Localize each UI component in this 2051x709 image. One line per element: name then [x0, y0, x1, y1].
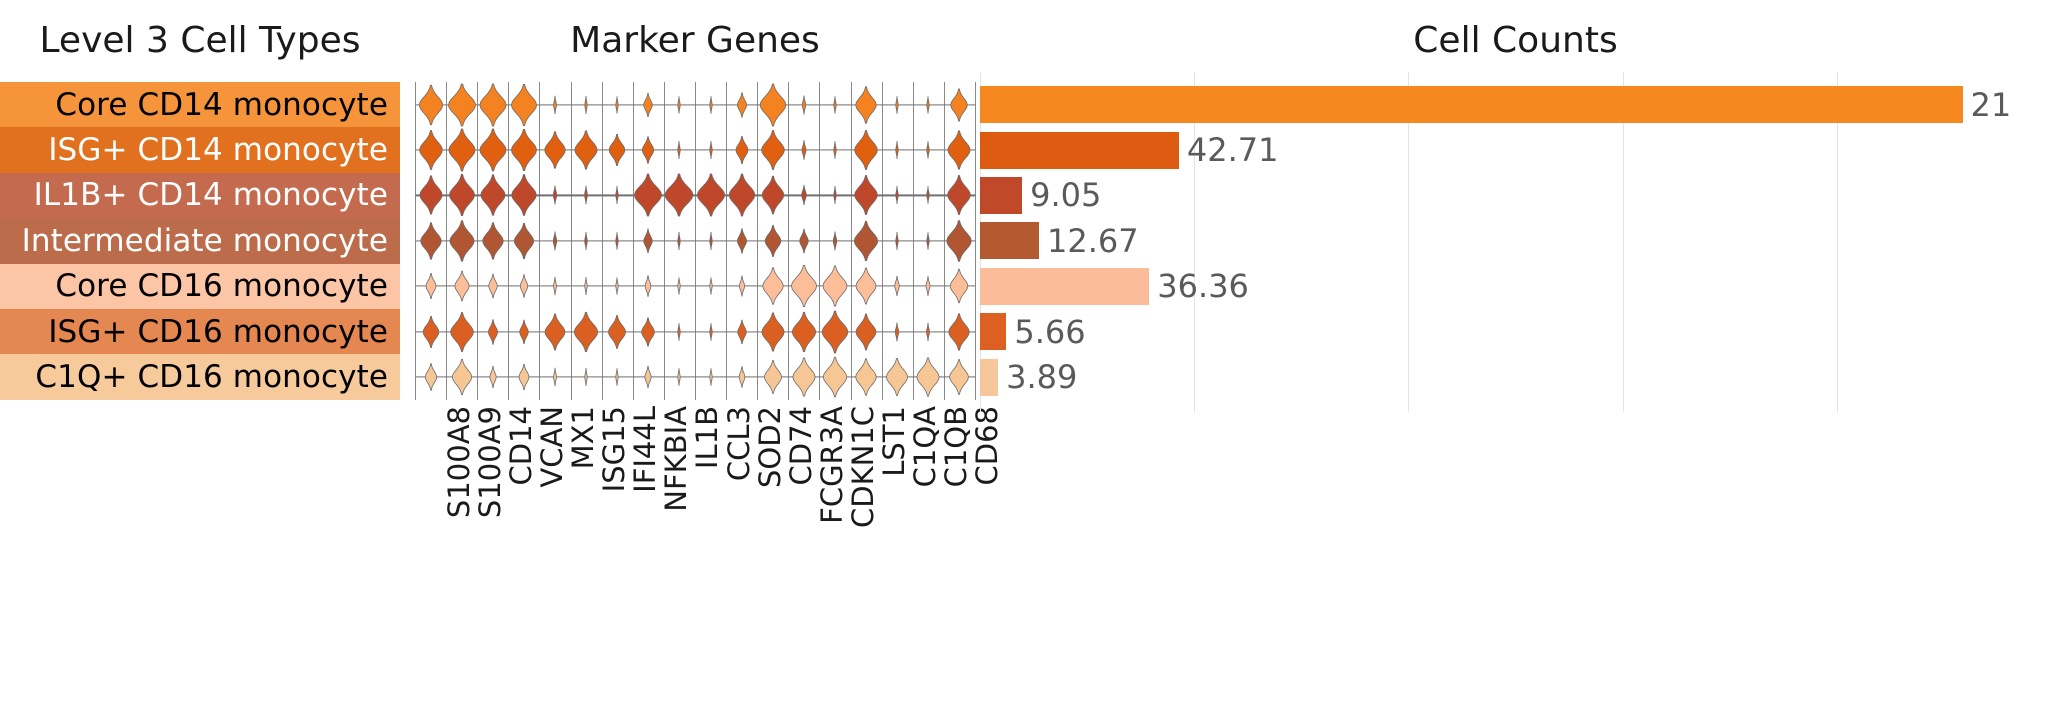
violin-cell — [882, 127, 913, 172]
violin-cell — [757, 127, 788, 172]
violin-shape — [881, 322, 914, 342]
violin-shape — [788, 357, 821, 397]
violin-shape — [912, 276, 945, 297]
violin-cell — [882, 354, 913, 399]
bar-row[interactable]: 5.66 — [980, 309, 2051, 354]
violin-shape — [725, 228, 758, 254]
violin-cell — [695, 82, 726, 127]
violin-cell — [851, 354, 882, 399]
violin-shape — [601, 186, 634, 205]
violin-cell — [415, 309, 446, 354]
bar-rows: 2142.719.0512.6736.365.663.89 — [980, 82, 2051, 400]
violin-shape — [912, 186, 945, 205]
gene-tick-label: C1QA — [908, 406, 942, 487]
violin-cell — [913, 309, 944, 354]
violin-shape — [881, 95, 914, 114]
violin-cell — [664, 82, 695, 127]
violin-shape — [943, 88, 976, 122]
violin-shape — [632, 365, 665, 388]
violin-shape — [570, 130, 603, 170]
violin-cell — [944, 218, 975, 263]
violin-shape — [756, 83, 789, 127]
bar-row[interactable]: 21 — [980, 82, 2051, 127]
violin-cell — [477, 218, 508, 263]
violin-shape — [601, 133, 634, 166]
violin-cell — [664, 264, 695, 309]
violin-cell — [726, 173, 757, 218]
violin-cell — [757, 82, 788, 127]
violin-shape — [570, 277, 603, 296]
violin-shape — [943, 269, 976, 304]
violin-cell — [788, 309, 819, 354]
violin-cell — [819, 127, 850, 172]
violin-shape — [756, 267, 789, 305]
violin-shape — [539, 231, 572, 251]
violin-shape — [850, 130, 883, 171]
violin-cell — [508, 354, 539, 399]
violin-shape — [663, 141, 696, 160]
violin-cell — [415, 173, 446, 218]
gene-tick-label: VCAN — [535, 406, 569, 488]
bar-row[interactable]: 42.71 — [980, 127, 2051, 172]
violin-shape — [476, 174, 509, 216]
violin-cell — [819, 264, 850, 309]
bar-row[interactable]: 36.36 — [980, 264, 2051, 309]
violin-cell — [726, 264, 757, 309]
violin-shape — [943, 130, 976, 170]
violin-shape — [414, 175, 447, 215]
violin-cell — [726, 309, 757, 354]
bar[interactable] — [980, 86, 1963, 123]
gene-tick-label: C1QB — [939, 406, 973, 487]
violin-shape — [663, 231, 696, 250]
violin-cell — [695, 264, 726, 309]
violin-shape — [663, 173, 696, 217]
violin-shape — [819, 310, 852, 354]
violin-cell — [508, 82, 539, 127]
violin-shape — [756, 176, 789, 216]
violin-cell — [788, 173, 819, 218]
violin-shape — [943, 359, 976, 396]
bar-row[interactable]: 12.67 — [980, 218, 2051, 263]
violin-shape — [445, 358, 478, 395]
violin-cell — [602, 354, 633, 399]
bar-value-label: 12.67 — [1047, 222, 1139, 260]
violin-cell — [602, 82, 633, 127]
violin-shape — [414, 273, 447, 300]
violin-shape — [601, 95, 634, 114]
violin-cell — [913, 264, 944, 309]
violin-shape — [476, 319, 509, 345]
violin-shape — [881, 231, 914, 250]
bar-row[interactable]: 9.05 — [980, 173, 2051, 218]
gene-tick-label: CDKN1C — [846, 406, 880, 528]
violin-cell — [819, 173, 850, 218]
violin-cell — [415, 354, 446, 399]
gene-tick-label: S100A9 — [473, 406, 507, 518]
violin-shape — [881, 358, 914, 397]
violin-shape — [508, 363, 541, 390]
violin-shape — [756, 312, 789, 352]
violin-shape — [508, 174, 541, 217]
violin-shape — [912, 357, 945, 397]
violin-cell — [726, 127, 757, 172]
violin-shape — [632, 275, 665, 298]
violin-cell — [446, 173, 477, 218]
gene-tick-label: CD74 — [784, 406, 818, 485]
violin-shape — [476, 365, 509, 388]
figure-root: Level 3 Cell Types Marker Genes Cell Cou… — [0, 0, 2051, 709]
violin-cell — [695, 354, 726, 399]
violin-cell — [446, 264, 477, 309]
violin-shape — [912, 231, 945, 250]
violin-shape — [725, 174, 758, 218]
violin-shape — [694, 368, 727, 387]
gene-tick-label: S100A8 — [442, 406, 476, 518]
violin-cell — [446, 218, 477, 263]
violin-shape — [570, 368, 603, 387]
violin-shape — [414, 222, 447, 260]
violin-cell — [571, 309, 602, 354]
violin-cell — [633, 173, 664, 218]
violin-cell — [508, 127, 539, 172]
violin-shape — [539, 131, 572, 169]
violin-shape — [663, 277, 696, 296]
violin-cell — [571, 218, 602, 263]
cell-type-label: Core CD16 monocyte — [55, 268, 388, 304]
violin-shape — [788, 228, 821, 254]
violin-cell — [851, 82, 882, 127]
violin-cell — [819, 309, 850, 354]
violin-cell — [819, 354, 850, 399]
violin-cell — [415, 82, 446, 127]
gene-tick-label: FCGR3A — [815, 406, 849, 524]
bar[interactable] — [980, 222, 1039, 259]
violin-cell — [664, 218, 695, 263]
violin-cell — [882, 218, 913, 263]
violin-cell — [788, 218, 819, 263]
violin-shape — [819, 231, 852, 251]
violin-shape — [414, 84, 447, 125]
cell-type-label: Intermediate monocyte — [22, 223, 388, 259]
violin-shape — [570, 231, 603, 250]
violin-shape — [663, 95, 696, 114]
violin-shape — [539, 313, 572, 351]
violin-shape — [445, 83, 478, 127]
violin-cell — [944, 309, 975, 354]
violin-shape — [445, 174, 478, 217]
violin-cell — [913, 127, 944, 172]
bar[interactable] — [980, 313, 1006, 350]
bar-value-label: 3.89 — [1006, 358, 1077, 396]
violin-shape — [725, 135, 758, 164]
violin-cell — [508, 173, 539, 218]
violin-cell — [757, 218, 788, 263]
cell-type-label: ISG+ CD14 monocyte — [48, 132, 388, 168]
violin-shape — [850, 175, 883, 216]
page-title-cell-types: Level 3 Cell Types — [0, 20, 400, 61]
violin-cell — [571, 173, 602, 218]
cell-type-row[interactable]: IL1B+ CD14 monocyte — [0, 173, 400, 218]
violin-shape — [850, 220, 883, 261]
violin-cell — [602, 127, 633, 172]
violin-shape — [819, 95, 852, 114]
violin-cell — [539, 127, 570, 172]
violin-cell — [882, 264, 913, 309]
violin-shape — [850, 267, 883, 305]
violin-shape — [788, 311, 821, 352]
violin-shape — [912, 322, 945, 342]
violin-shape — [445, 220, 478, 262]
violin-shape — [819, 356, 852, 397]
violin-shape — [570, 311, 603, 352]
violin-cell — [571, 82, 602, 127]
cell-type-row[interactable]: ISG+ CD16 monocyte — [0, 309, 400, 354]
gene-tick-label: LST1 — [877, 406, 911, 477]
bar-value-label: 42.71 — [1187, 131, 1279, 169]
violin-cell — [446, 127, 477, 172]
violin-shape — [694, 141, 727, 160]
violin-cell — [944, 264, 975, 309]
violin-cell — [602, 264, 633, 309]
violin-cell — [726, 82, 757, 127]
bar[interactable] — [980, 359, 998, 396]
violin-cell — [664, 173, 695, 218]
violin-shape — [632, 92, 665, 118]
violin-cell — [757, 354, 788, 399]
violin-cell — [695, 309, 726, 354]
violin-cell — [446, 82, 477, 127]
violin-shape — [819, 265, 852, 307]
violin-shape — [601, 277, 634, 296]
cell-type-label: ISG+ CD16 monocyte — [48, 314, 388, 350]
cell-type-row[interactable]: Core CD16 monocyte — [0, 264, 400, 309]
violin-cell — [913, 354, 944, 399]
violin-shape — [539, 95, 572, 115]
cell-type-label: C1Q+ CD16 monocyte — [35, 359, 388, 395]
cell-type-row[interactable]: C1Q+ CD16 monocyte — [0, 354, 400, 399]
violin-cell — [477, 173, 508, 218]
violin-shape — [881, 186, 914, 205]
violin-shape — [601, 314, 634, 349]
violin-cell — [788, 127, 819, 172]
violin-cell — [602, 173, 633, 218]
violin-cell — [695, 127, 726, 172]
violin-cell — [477, 82, 508, 127]
violin-plot-panel — [415, 82, 975, 400]
violin-cell — [633, 264, 664, 309]
violin-cell — [633, 82, 664, 127]
violin-shape — [788, 140, 821, 161]
violin-cell — [508, 264, 539, 309]
bar[interactable] — [980, 177, 1022, 214]
violin-shape — [725, 92, 758, 118]
violin-cell — [571, 264, 602, 309]
violin-shape — [788, 265, 821, 308]
violin-cell — [757, 264, 788, 309]
cell-type-row[interactable]: ISG+ CD14 monocyte — [0, 127, 400, 172]
violin-shape — [508, 128, 541, 171]
violin-cell — [913, 218, 944, 263]
violin-cell — [477, 354, 508, 399]
bar-value-label: 36.36 — [1157, 267, 1249, 305]
violin-shape — [632, 317, 665, 347]
violin-cell — [633, 127, 664, 172]
violin-cell — [477, 264, 508, 309]
violin-cell — [415, 264, 446, 309]
violin-shape — [476, 222, 509, 260]
violin-shape — [694, 173, 727, 217]
violin-shape — [539, 185, 572, 205]
bar[interactable] — [980, 268, 1149, 305]
violin-cell — [695, 173, 726, 218]
violin-shape — [850, 85, 883, 123]
violin-shape — [943, 175, 976, 216]
violin-shape — [725, 275, 758, 297]
violin-shape — [601, 231, 634, 250]
bar-row[interactable]: 3.89 — [980, 354, 2051, 399]
gene-tick-label: MX1 — [566, 406, 600, 469]
violin-cell — [851, 309, 882, 354]
violin-cell — [664, 309, 695, 354]
violin-cell — [664, 354, 695, 399]
gene-tick-label: IL1B — [690, 406, 724, 469]
bar-value-label: 9.05 — [1030, 176, 1101, 214]
violin-shape — [788, 185, 821, 207]
violin-shape — [756, 130, 789, 171]
gene-tick-label: NFKBIA — [659, 406, 693, 512]
violin-cell — [944, 127, 975, 172]
violin-cell — [757, 309, 788, 354]
violin-cell — [446, 309, 477, 354]
violin-cell — [757, 173, 788, 218]
violin-shape — [912, 141, 945, 160]
bar-plot-area: 2142.719.0512.6736.365.663.89 — [980, 72, 2051, 412]
violin-cell — [851, 173, 882, 218]
violin-cell — [726, 354, 757, 399]
bar-value-label: 21 — [1971, 86, 2012, 124]
violin-cell — [633, 354, 664, 399]
violin-cell — [913, 82, 944, 127]
violin-cell — [446, 354, 477, 399]
violin-cell — [508, 309, 539, 354]
violin-shape — [508, 274, 541, 299]
violin-shape — [570, 95, 603, 114]
violin-shape — [508, 319, 541, 345]
violin-cell — [602, 218, 633, 263]
gene-tick-label: IFI44L — [628, 406, 662, 493]
violin-shape — [943, 312, 976, 350]
violin-shape — [508, 222, 541, 259]
violin-shape — [445, 311, 478, 352]
cell-type-row[interactable]: Intermediate monocyte — [0, 218, 400, 263]
violin-cell — [539, 173, 570, 218]
violin-shape — [414, 363, 447, 392]
violin-cell — [539, 354, 570, 399]
violin-shape — [539, 276, 572, 296]
gene-tick-label: CCL3 — [722, 406, 756, 481]
bar-value-label: 5.66 — [1014, 313, 1085, 351]
violin-shape — [476, 83, 509, 127]
violin-cell — [819, 82, 850, 127]
violin-cell — [571, 354, 602, 399]
violin-cell — [851, 127, 882, 172]
cell-type-label: IL1B+ CD14 monocyte — [34, 177, 388, 213]
violin-shape — [476, 128, 509, 172]
violin-shape — [570, 186, 603, 206]
violin-cell — [882, 82, 913, 127]
violin-cell — [602, 309, 633, 354]
cell-type-label: Core CD14 monocyte — [55, 87, 388, 123]
violin-shape — [414, 315, 447, 348]
violin-cell — [788, 354, 819, 399]
violin-shape — [725, 319, 758, 345]
violin-shape — [414, 130, 447, 171]
cell-counts-bar-chart: 2142.719.0512.6736.365.663.89 — [980, 72, 2051, 412]
violin-cell — [726, 218, 757, 263]
violin-shape — [819, 141, 852, 160]
violin-shape — [756, 360, 789, 395]
violin-cell — [944, 82, 975, 127]
violin-shape — [694, 231, 727, 250]
violin-shape — [445, 270, 478, 302]
violin-cell — [539, 82, 570, 127]
gene-tick-label: SOD2 — [753, 406, 787, 488]
violin-cell — [539, 264, 570, 309]
violin-cell — [633, 218, 664, 263]
violin-cell — [415, 127, 446, 172]
violin-shape — [445, 128, 478, 172]
violin-shape — [632, 228, 665, 254]
bar[interactable] — [980, 132, 1179, 169]
violin-cell — [539, 218, 570, 263]
violin-shape — [663, 322, 696, 341]
violin-cell — [508, 218, 539, 263]
violin-shape — [943, 220, 976, 263]
violin-cell — [913, 173, 944, 218]
violin-cell — [539, 309, 570, 354]
violin-shape — [663, 368, 696, 387]
cell-type-row[interactable]: Core CD14 monocyte — [0, 82, 400, 127]
violin-shape — [694, 95, 727, 114]
violin-cell — [415, 218, 446, 263]
violin-cell — [695, 218, 726, 263]
violin-shape — [788, 95, 821, 115]
violin-shape — [694, 277, 727, 296]
violin-shape — [881, 141, 914, 160]
violin-cell — [944, 354, 975, 399]
page-title-marker-genes: Marker Genes — [415, 20, 975, 61]
violin-shape — [632, 173, 665, 217]
violin-cell — [477, 309, 508, 354]
violin-cell — [882, 173, 913, 218]
violin-cell — [851, 218, 882, 263]
violin-shape — [850, 358, 883, 396]
violin-shape — [725, 366, 758, 389]
gene-tick-label: CD14 — [504, 406, 538, 485]
violin-shape — [819, 186, 852, 205]
violin-cell — [944, 173, 975, 218]
page-title-cell-counts: Cell Counts — [980, 20, 2051, 61]
violin-shape — [476, 273, 509, 299]
violin-cell — [851, 264, 882, 309]
gene-tick-label: CD68 — [970, 406, 1004, 485]
violin-shape — [508, 83, 541, 126]
violin-shape — [601, 368, 634, 387]
violin-cell — [477, 127, 508, 172]
violin-cell — [571, 127, 602, 172]
violin-shape — [632, 136, 665, 165]
